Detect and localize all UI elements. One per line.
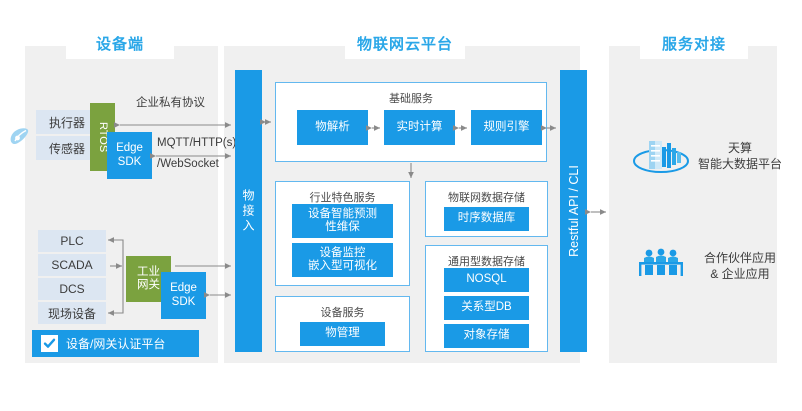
source-plc[interactable]: PLC [38,230,106,252]
source-field-device[interactable]: 现场设备 [38,302,106,324]
monitoring-line1: 设备监控 [320,247,366,260]
api-bar-label: Restful API / CLI [567,165,581,257]
industry-service-title: 行业特色服务 [276,189,409,205]
service-panel [609,46,777,363]
protocol-mqtt-label-line2: /WebSocket [157,157,219,172]
general-storage-item-rdb[interactable]: 关系型DB [444,296,529,320]
edge-sdk-bottom[interactable]: Edge SDK [161,272,206,319]
gateway-label-line2: 网关 [137,279,160,292]
service-bigdata-line1: 天算 [690,140,790,156]
api-bar[interactable]: Restful API / CLI [560,70,587,352]
source-scada[interactable]: SCADA [38,254,106,276]
check-icon [41,335,58,352]
diagram-canvas: 设备端 物联网云平台 服务对接 执行器 传感器 RTOS Edge SDK 企业… [0,0,802,411]
endpoint-sensor[interactable]: 传感器 [36,136,98,160]
iot-storage-title: 物联网数据存储 [426,189,547,205]
basic-service-title: 基础服务 [276,90,546,106]
access-bar-label: 物接入 [240,189,257,234]
basic-service-item-realtime[interactable]: 实时计算 [384,110,455,145]
service-label-bigdata: 天算 智能大数据平台 [690,140,790,172]
source-dcs[interactable]: DCS [38,278,106,300]
gateway-label-line1: 工业 [137,266,160,279]
edge-sdk-bottom-line2: SDK [172,296,196,309]
service-partners-line2: & 企业应用 [690,266,790,282]
bigdata-building-icon [631,135,691,177]
iot-storage-item-tsdb[interactable]: 时序数据库 [444,207,529,231]
service-label-partners: 合作伙伴应用 & 企业应用 [690,250,790,282]
monitoring-line2: 嵌入型可视化 [308,260,377,273]
plug-leaf-icon [8,124,32,150]
industry-service-item-predictive[interactable]: 设备智能预测 性维保 [292,204,393,238]
service-partners-line1: 合作伙伴应用 [690,250,790,266]
cert-platform-bar[interactable]: 设备/网关认证平台 [32,330,199,357]
access-bar[interactable]: 物接入 [235,70,262,352]
industry-service-item-monitoring[interactable]: 设备监控 嵌入型可视化 [292,243,393,277]
endpoint-actuator[interactable]: 执行器 [36,110,98,134]
general-storage-item-nosql[interactable]: NOSQL [444,268,529,292]
predictive-line1: 设备智能预测 [308,208,377,221]
basic-service-item-rule-engine[interactable]: 规则引擎 [471,110,542,145]
device-service-item-thing-mgmt[interactable]: 物管理 [300,322,385,346]
partners-people-icon [633,246,689,280]
edge-sdk-top-line1: Edge [116,142,143,155]
general-storage-title: 通用型数据存储 [426,253,547,269]
service-bigdata-line2: 智能大数据平台 [690,156,790,172]
section-title-device: 设备端 [66,32,174,59]
general-storage-item-object[interactable]: 对象存储 [444,324,529,348]
basic-service-item-parse[interactable]: 物解析 [297,110,368,145]
device-service-title: 设备服务 [276,304,409,320]
section-title-platform: 物联网云平台 [345,32,465,59]
cert-platform-label: 设备/网关认证平台 [66,335,165,352]
edge-sdk-bottom-line1: Edge [170,282,197,295]
edge-sdk-top-line2: SDK [118,156,142,169]
protocol-mqtt-label-line1: MQTT/HTTP(s) [157,136,236,151]
section-title-service: 服务对接 [640,32,748,59]
protocol-private-label: 企业私有协议 [136,96,205,111]
edge-sdk-top[interactable]: Edge SDK [107,132,152,179]
predictive-line2: 性维保 [325,221,360,234]
